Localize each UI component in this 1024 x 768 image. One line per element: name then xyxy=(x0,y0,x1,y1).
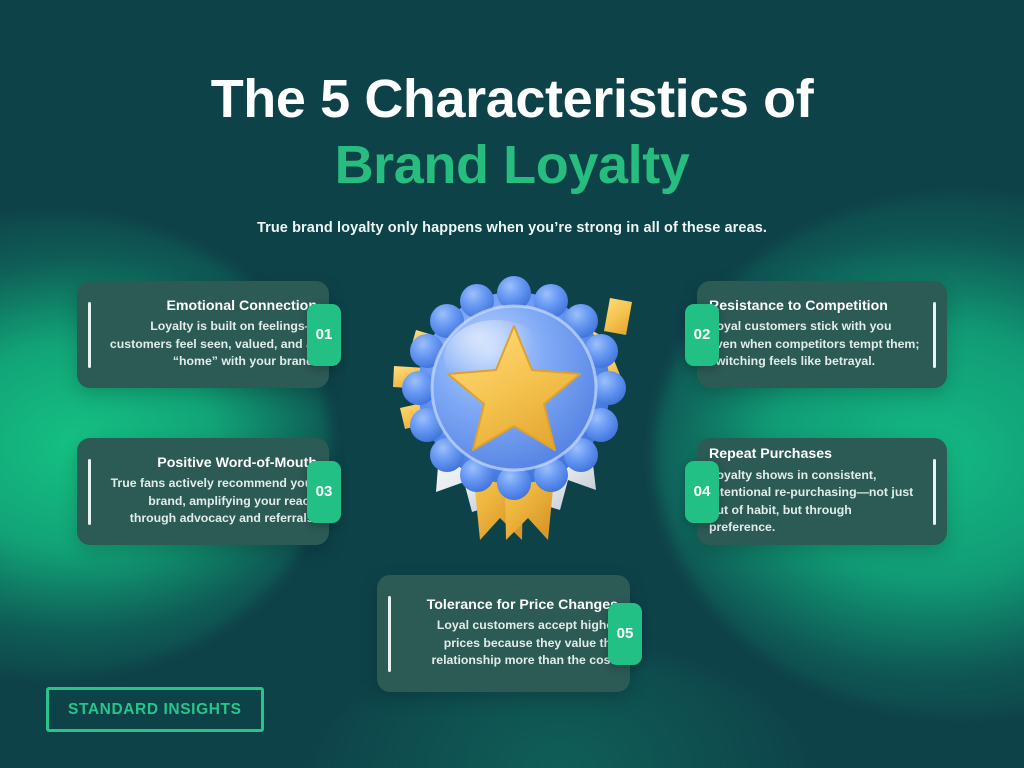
characteristic-card-4[interactable]: Repeat Purchases Loyalty shows in consis… xyxy=(697,438,947,545)
card-description: Loyalty shows in consistent, intentional… xyxy=(709,467,921,537)
infographic-canvas: The 5 Characteristics of Brand Loyalty T… xyxy=(0,0,1024,768)
card-description: Loyal customers stick with you even when… xyxy=(709,318,921,370)
card-accent-line xyxy=(933,302,936,368)
characteristic-card-2[interactable]: Resistance to Competition Loyal customer… xyxy=(697,281,947,388)
card-number-badge: 02 xyxy=(685,304,719,366)
card-title: Repeat Purchases xyxy=(709,446,921,463)
header: The 5 Characteristics of Brand Loyalty T… xyxy=(0,0,1024,236)
characteristic-card-5[interactable]: Tolerance for Price Changes Loyal custom… xyxy=(377,575,630,692)
card-number-badge: 03 xyxy=(307,461,341,523)
page-title-line-1: The 5 Characteristics of xyxy=(0,72,1024,126)
card-title: Resistance to Competition xyxy=(709,298,921,315)
page-title-line-2: Brand Loyalty xyxy=(0,138,1024,192)
card-number-badge: 04 xyxy=(685,461,719,523)
card-description: Loyalty is built on feelings—customers f… xyxy=(103,318,317,370)
characteristic-card-1[interactable]: Emotional Connection Loyalty is built on… xyxy=(77,281,329,388)
card-description: Loyal customers accept higher prices bec… xyxy=(403,617,618,669)
card-description: True fans actively recommend your brand,… xyxy=(103,475,317,527)
card-title: Emotional Connection xyxy=(103,298,317,315)
page-subtitle: True brand loyalty only happens when you… xyxy=(0,220,1024,236)
characteristic-card-3[interactable]: Positive Word-of-Mouth True fans activel… xyxy=(77,438,329,545)
card-title: Positive Word-of-Mouth xyxy=(103,455,317,472)
card-number-badge: 05 xyxy=(608,603,642,665)
brand-badge: STANDARD INSIGHTS xyxy=(46,687,264,732)
card-title: Tolerance for Price Changes xyxy=(403,597,618,614)
rosette xyxy=(402,276,626,500)
award-badge-icon xyxy=(378,262,650,550)
card-accent-line xyxy=(933,459,936,525)
card-number-badge: 01 xyxy=(307,304,341,366)
